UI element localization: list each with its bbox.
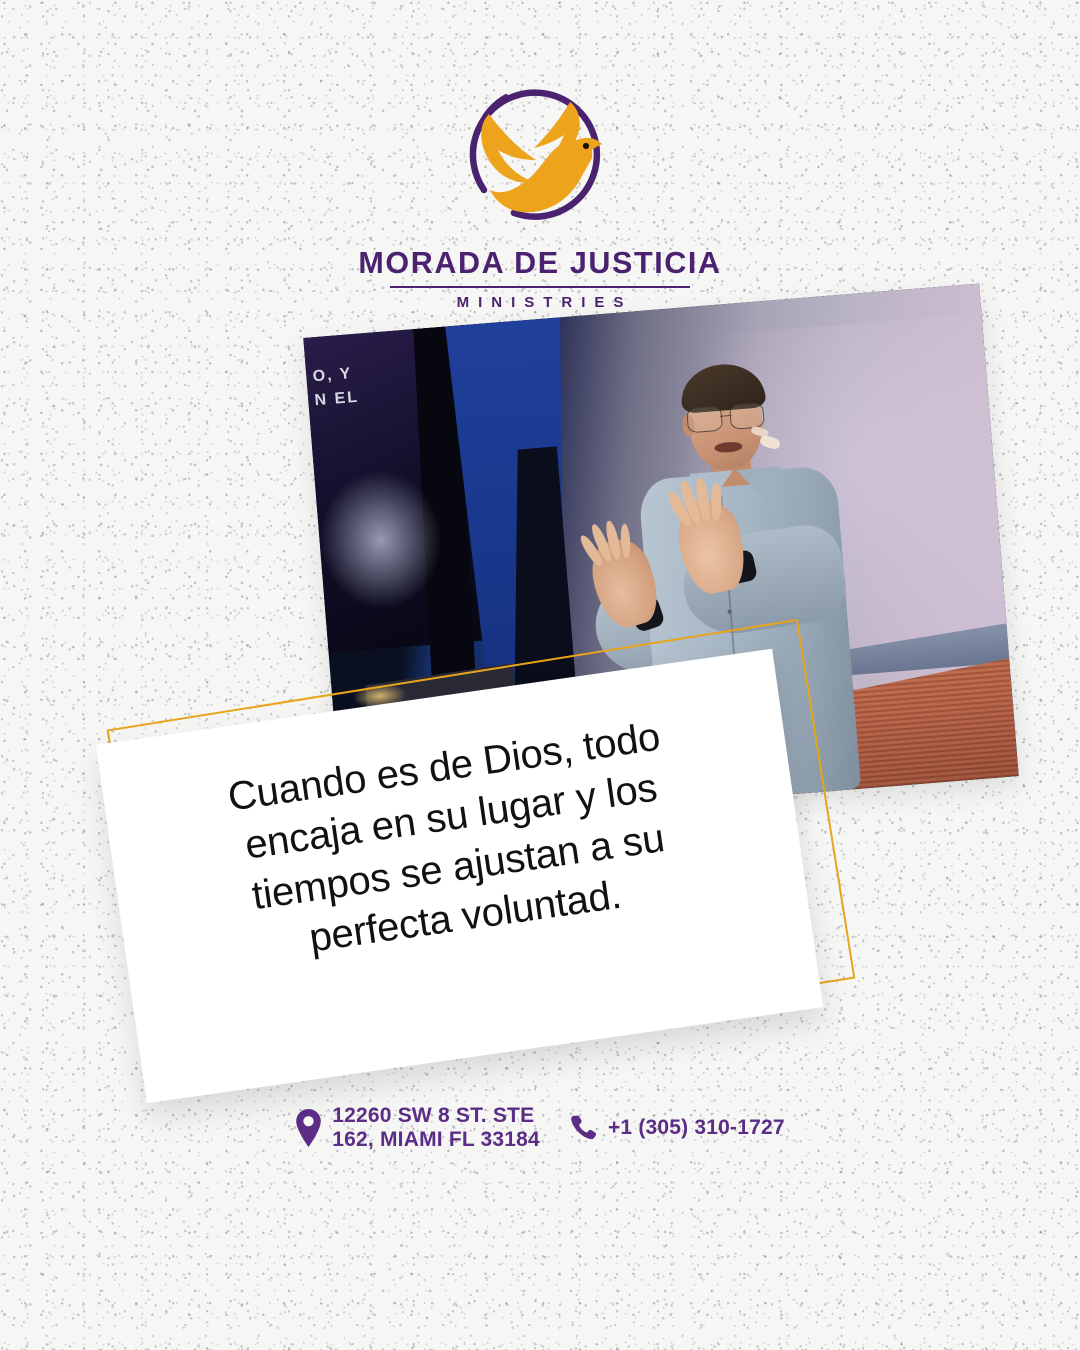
quote-text: Cuando es de Dios, todo encaja en su lug… [208,709,702,975]
phone-icon [568,1113,598,1143]
brand-logo: MORADA DE JUSTICIA MINISTRIES [0,72,1080,310]
stage-screen-text: O, Y N EL [312,362,360,413]
dove-in-circle-icon [454,72,626,240]
address-text: 12260 SW 8 ST. STE 162, MIAMI FL 33184 [332,1104,540,1151]
location-pin-icon [295,1109,322,1147]
shirt-button [727,609,731,613]
brand-divider [390,286,690,288]
phone-block[interactable]: +1 (305) 310-1727 [568,1113,785,1143]
poster-canvas: MORADA DE JUSTICIA MINISTRIES O, Y N EL [0,0,1080,1350]
stage-light-haze-left [314,466,447,614]
brand-name: MORADA DE JUSTICIA [0,248,1080,279]
address-block[interactable]: 12260 SW 8 ST. STE 162, MIAMI FL 33184 [295,1104,540,1151]
phone-text: +1 (305) 310-1727 [608,1116,785,1140]
headset-microphone [759,434,781,450]
speaker-glasses [686,402,766,431]
contact-footer: 12260 SW 8 ST. STE 162, MIAMI FL 33184 +… [0,1104,1080,1151]
address-line-2: 162, MIAMI FL 33184 [332,1128,540,1152]
address-line-1: 12260 SW 8 ST. STE [332,1104,540,1128]
